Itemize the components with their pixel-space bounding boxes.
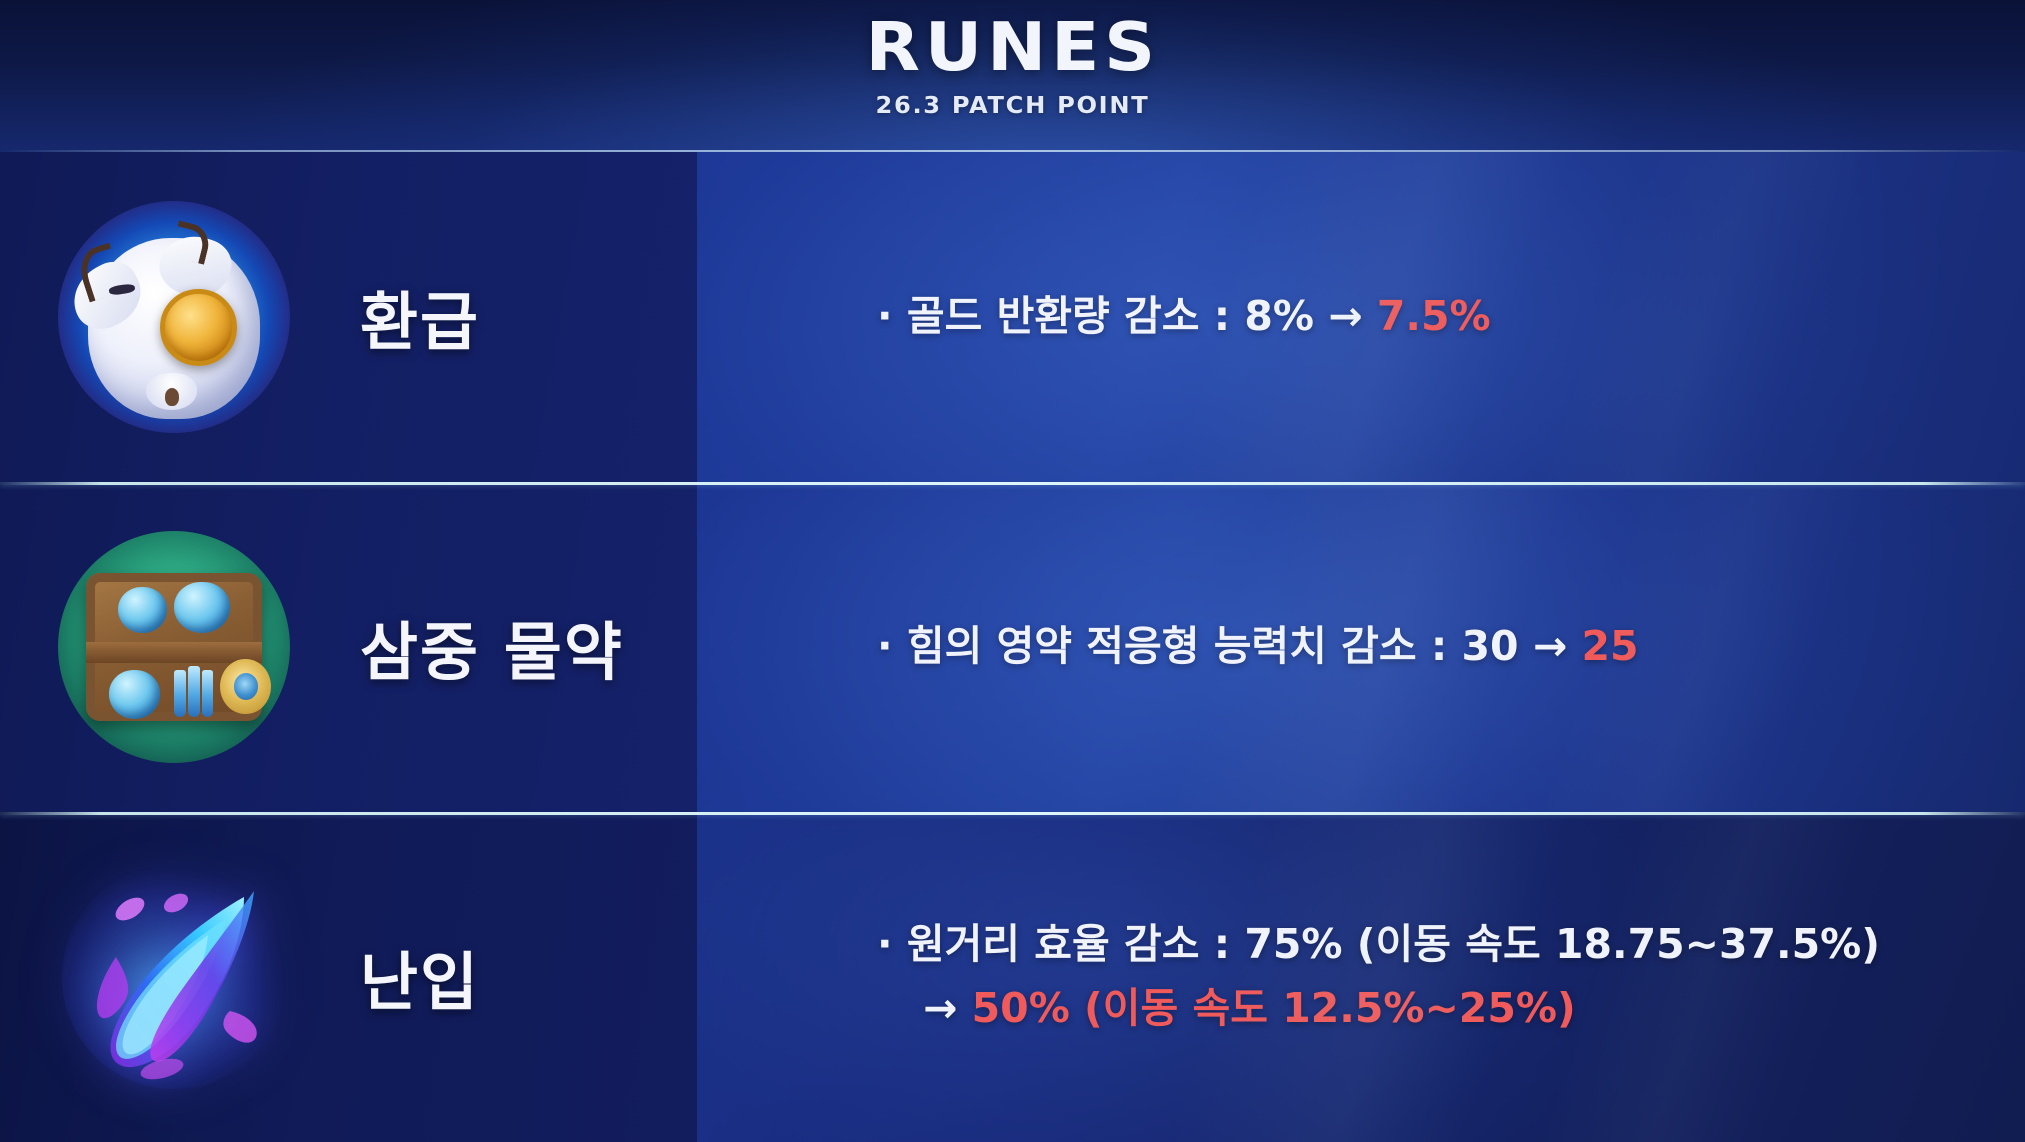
rune-name-label: 난입 — [360, 932, 480, 1023]
rune-description: · 골드 반환량 감소 : 8% → 7.5% — [877, 285, 1491, 349]
rune-identity-cell: 삼중 물약 — [0, 482, 697, 812]
rune-description-cell: · 원거리 효율 감소 : 75% (이동 속도 18.75~37.5%) → … — [697, 812, 2025, 1142]
page-subtitle: 26.3 PATCH POINT — [876, 93, 1150, 119]
description-highlight: 7.5% — [1377, 292, 1491, 340]
rune-row: 환급 · 골드 반환량 감소 : 8% → 7.5% — [0, 152, 2025, 482]
description-line: → 50% (이동 속도 12.5%~25%) — [877, 977, 1880, 1041]
tonic-potion — [174, 582, 230, 633]
rune-row: 난입 · 원거리 효율 감소 : 75% (이동 속도 18.75~37.5%)… — [0, 812, 2025, 1142]
description-text: · 원거리 효율 감소 : 75% (이동 속도 18.75~37.5%) — [877, 920, 1880, 968]
triple-tonic-rune-icon — [58, 531, 290, 763]
description-highlight: 50% (이동 속도 12.5%~25%) — [972, 984, 1576, 1032]
description-highlight: 25 — [1581, 622, 1638, 670]
description-text: · 힘의 영약 적응형 능력치 감소 : 30 → — [877, 622, 1581, 670]
gold-coin-icon — [160, 289, 237, 366]
rune-description: · 힘의 영약 적응형 능력치 감소 : 30 → 25 — [877, 615, 1639, 679]
poro-paw — [146, 373, 197, 410]
rune-identity-cell: 환급 — [0, 152, 697, 482]
rune-rows-container: 환급 · 골드 반환량 감소 : 8% → 7.5% — [0, 152, 2025, 1142]
board-header: RUNES 26.3 PATCH POINT — [0, 0, 2025, 152]
description-arrow: → — [923, 984, 972, 1032]
description-line: · 골드 반환량 감소 : 8% → 7.5% — [877, 285, 1491, 349]
tonic-potion — [118, 587, 167, 633]
rune-identity-cell: 난입 — [0, 812, 697, 1142]
tonic-swirl-ornament — [220, 659, 271, 715]
cash-back-rune-icon — [58, 201, 290, 433]
page-title: RUNES — [865, 14, 1159, 83]
rune-icon-wrap — [58, 861, 290, 1093]
rune-icon-wrap — [58, 531, 290, 763]
description-line: · 힘의 영약 적응형 능력치 감소 : 30 → 25 — [877, 615, 1639, 679]
description-text: · 골드 반환량 감소 : 8% → — [877, 292, 1377, 340]
tonic-vial — [174, 670, 186, 716]
rune-row: 삼중 물약 · 힘의 영약 적응형 능력치 감소 : 30 → 25 — [0, 482, 2025, 812]
nimbus-cloak-rune-icon — [58, 861, 290, 1093]
tonic-potion — [109, 670, 160, 719]
rune-name-label: 환급 — [360, 272, 480, 363]
tonic-vial — [202, 670, 214, 716]
tonic-vial — [188, 666, 200, 717]
row-divider — [0, 812, 2025, 815]
rune-name-label: 삼중 물약 — [360, 602, 624, 693]
rune-description-cell: · 힘의 영약 적응형 능력치 감소 : 30 → 25 — [697, 482, 2025, 812]
row-divider — [0, 482, 2025, 485]
rune-description: · 원거리 효율 감소 : 75% (이동 속도 18.75~37.5%) → … — [877, 913, 1880, 1040]
runes-patch-board: RUNES 26.3 PATCH POINT — [0, 0, 2025, 1142]
rune-icon-wrap — [58, 201, 290, 433]
rune-description-cell: · 골드 반환량 감소 : 8% → 7.5% — [697, 152, 2025, 482]
description-line: · 원거리 효율 감소 : 75% (이동 속도 18.75~37.5%) — [877, 913, 1880, 977]
